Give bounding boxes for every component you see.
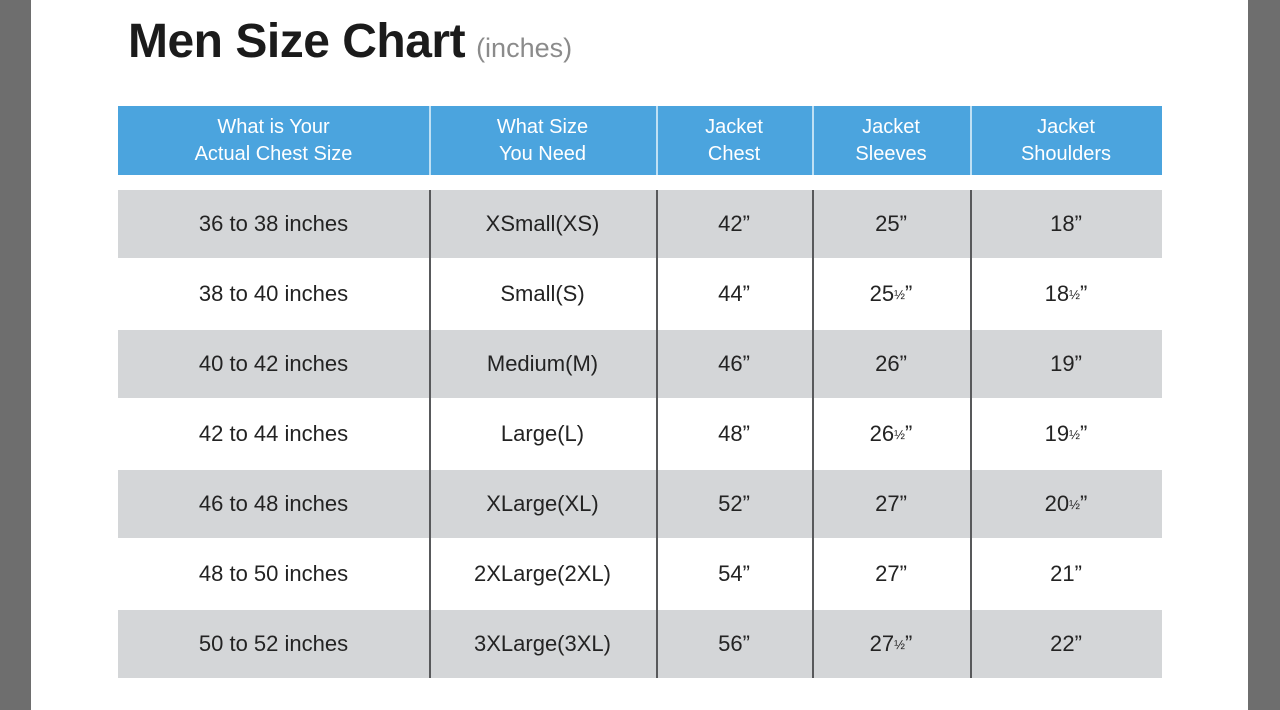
header-line-2: Actual Chest Size <box>195 141 353 167</box>
header-line-2: You Need <box>499 141 586 167</box>
cell-jacket-chest: 56” <box>656 610 812 678</box>
cell-jacket-shoulders: 18” <box>970 190 1162 258</box>
cell-jacket-sleeves: 27” <box>812 470 970 538</box>
cell-size-needed: 2XLarge(2XL) <box>429 540 656 608</box>
cell-jacket-chest: 52” <box>656 470 812 538</box>
cell-size-needed: Large(L) <box>429 400 656 468</box>
header-line-2: Shoulders <box>1021 141 1111 167</box>
table-row: 46 to 48 inchesXLarge(XL)52”27”20½” <box>118 470 1162 538</box>
page-title: Men Size Chart (inches) <box>128 18 572 66</box>
table-row: 48 to 50 inches2XLarge(2XL)54”27”21” <box>118 540 1162 608</box>
letterbox-bar-left <box>0 0 31 710</box>
letterbox-bar-right <box>1248 0 1280 710</box>
cell-jacket-chest: 42” <box>656 190 812 258</box>
header-line-1: Jacket <box>1037 114 1095 140</box>
table-row: 36 to 38 inchesXSmall(XS)42”25”18” <box>118 190 1162 258</box>
cell-jacket-shoulders: 22” <box>970 610 1162 678</box>
header-line-2: Sleeves <box>855 141 926 167</box>
header-line-1: Jacket <box>862 114 920 140</box>
cell-size-needed: XLarge(XL) <box>429 470 656 538</box>
cell-chest-range: 42 to 44 inches <box>118 400 429 468</box>
table-header-row: What is Your Actual Chest Size What Size… <box>118 106 1162 175</box>
table-body: 36 to 38 inchesXSmall(XS)42”25”18”38 to … <box>118 190 1162 678</box>
cell-jacket-chest: 46” <box>656 330 812 398</box>
cell-jacket-sleeves: 26½” <box>812 400 970 468</box>
header-line-2: Chest <box>708 141 760 167</box>
cell-chest-range: 36 to 38 inches <box>118 190 429 258</box>
cell-chest-range: 40 to 42 inches <box>118 330 429 398</box>
column-header-jacket-shoulders: Jacket Shoulders <box>970 106 1162 175</box>
cell-size-needed: 3XLarge(3XL) <box>429 610 656 678</box>
column-header-jacket-sleeves: Jacket Sleeves <box>812 106 970 175</box>
header-line-1: Jacket <box>705 114 763 140</box>
table-row: 50 to 52 inches3XLarge(3XL)56”27½”22” <box>118 610 1162 678</box>
cell-size-needed: XSmall(XS) <box>429 190 656 258</box>
cell-jacket-shoulders: 21” <box>970 540 1162 608</box>
table-row: 38 to 40 inchesSmall(S)44”25½”18½” <box>118 260 1162 328</box>
cell-jacket-sleeves: 25” <box>812 190 970 258</box>
title-unit-text: (inches) <box>476 35 572 62</box>
cell-jacket-sleeves: 25½” <box>812 260 970 328</box>
size-chart-table: What is Your Actual Chest Size What Size… <box>118 106 1162 678</box>
cell-jacket-sleeves: 26” <box>812 330 970 398</box>
cell-jacket-sleeves: 27” <box>812 540 970 608</box>
cell-chest-range: 48 to 50 inches <box>118 540 429 608</box>
screenshot-stage: Men Size Chart (inches) What is Your Act… <box>0 0 1280 710</box>
header-line-1: What is Your <box>217 114 329 140</box>
cell-chest-range: 38 to 40 inches <box>118 260 429 328</box>
cell-jacket-shoulders: 19” <box>970 330 1162 398</box>
cell-jacket-shoulders: 20½” <box>970 470 1162 538</box>
cell-size-needed: Medium(M) <box>429 330 656 398</box>
cell-size-needed: Small(S) <box>429 260 656 328</box>
column-header-jacket-chest: Jacket Chest <box>656 106 812 175</box>
title-text: Men Size Chart <box>128 18 465 66</box>
cell-jacket-chest: 44” <box>656 260 812 328</box>
cell-jacket-shoulders: 18½” <box>970 260 1162 328</box>
cell-chest-range: 46 to 48 inches <box>118 470 429 538</box>
cell-chest-range: 50 to 52 inches <box>118 610 429 678</box>
cell-jacket-shoulders: 19½” <box>970 400 1162 468</box>
cell-jacket-chest: 54” <box>656 540 812 608</box>
column-header-actual-chest-size: What is Your Actual Chest Size <box>118 106 429 175</box>
table-row: 40 to 42 inchesMedium(M)46”26”19” <box>118 330 1162 398</box>
table-row: 42 to 44 inchesLarge(L)48”26½”19½” <box>118 400 1162 468</box>
cell-jacket-sleeves: 27½” <box>812 610 970 678</box>
header-line-1: What Size <box>497 114 588 140</box>
size-chart-page: Men Size Chart (inches) What is Your Act… <box>31 0 1248 710</box>
cell-jacket-chest: 48” <box>656 400 812 468</box>
column-header-size-you-need: What Size You Need <box>429 106 656 175</box>
